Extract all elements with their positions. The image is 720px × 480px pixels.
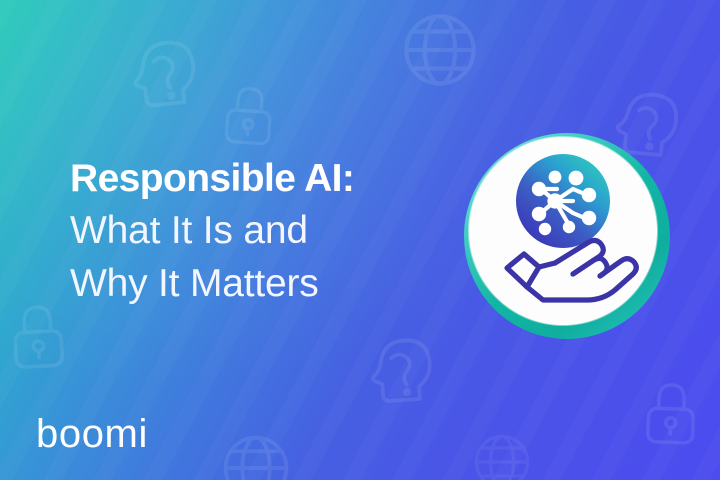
head-profile-icon	[124, 28, 210, 114]
open-hand-icon	[507, 240, 636, 300]
marketing-banner: Responsible AI: What It Is and Why It Ma…	[0, 0, 720, 480]
headline-line-2: What It Is and	[70, 204, 470, 257]
globe-icon	[218, 430, 294, 480]
responsible-ai-badge	[464, 133, 670, 339]
boomi-logo: boomi	[36, 412, 148, 456]
headline-line-1: Responsible AI:	[70, 154, 470, 204]
headline-block: Responsible AI: What It Is and Why It Ma…	[70, 154, 470, 310]
head-profile-icon	[363, 327, 444, 408]
padlock-icon	[0, 298, 76, 374]
padlock-icon	[635, 377, 707, 449]
padlock-icon	[214, 80, 284, 150]
globe-icon	[470, 430, 534, 480]
badge-artwork	[469, 137, 657, 325]
globe-icon	[398, 8, 482, 92]
ai-network-node-icon	[516, 154, 610, 248]
headline-line-3: Why It Matters	[70, 257, 470, 310]
